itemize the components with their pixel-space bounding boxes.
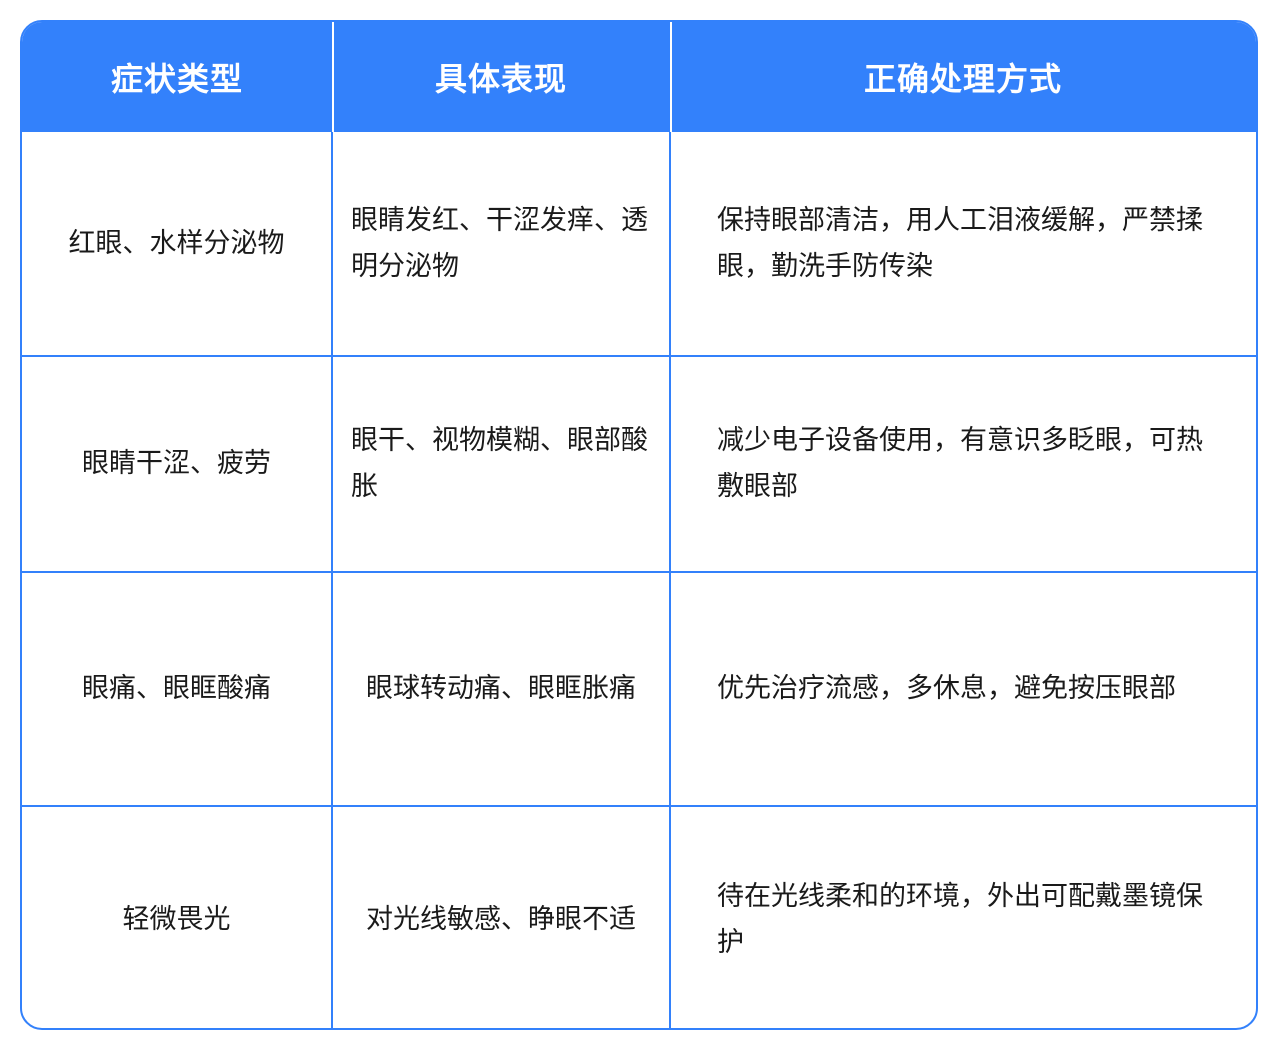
treatment-text: 待在光线柔和的环境，外出可配戴墨镜保护 (717, 874, 1216, 966)
cell-treatment: 待在光线柔和的环境，外出可配戴墨镜保护 (670, 806, 1256, 1030)
symptom-type-text: 眼痛、眼眶酸痛 (82, 666, 271, 712)
column-header-manifestation: 具体表现 (332, 22, 670, 132)
cell-symptom-type: 眼痛、眼眶酸痛 (22, 572, 332, 806)
symptom-type-text: 眼睛干涩、疲劳 (82, 441, 271, 487)
column-header-symptom-type: 症状类型 (22, 22, 332, 132)
cell-manifestation: 对光线敏感、睁眼不适 (332, 806, 670, 1030)
table-header: 症状类型 具体表现 正确处理方式 (22, 22, 1256, 132)
symptom-treatment-table: 症状类型 具体表现 正确处理方式 红眼、水样分泌物 眼睛发红、干涩发痒、透明分泌… (20, 20, 1258, 1030)
manifestation-text: 对光线敏感、睁眼不适 (366, 897, 636, 943)
column-header-treatment: 正确处理方式 (670, 22, 1256, 132)
cell-symptom-type: 红眼、水样分泌物 (22, 132, 332, 356)
cell-manifestation: 眼干、视物模糊、眼部酸胀 (332, 356, 670, 572)
manifestation-text: 眼睛发红、干涩发痒、透明分泌物 (351, 198, 651, 290)
table-row: 眼痛、眼眶酸痛 眼球转动痛、眼眶胀痛 优先治疗流感，多休息，避免按压眼部 (22, 572, 1256, 806)
table-body: 红眼、水样分泌物 眼睛发红、干涩发痒、透明分泌物 保持眼部清洁，用人工泪液缓解，… (22, 132, 1256, 1030)
cell-symptom-type: 轻微畏光 (22, 806, 332, 1030)
manifestation-text: 眼干、视物模糊、眼部酸胀 (351, 418, 651, 510)
cell-manifestation: 眼球转动痛、眼眶胀痛 (332, 572, 670, 806)
table-row: 轻微畏光 对光线敏感、睁眼不适 待在光线柔和的环境，外出可配戴墨镜保护 (22, 806, 1256, 1030)
table: 症状类型 具体表现 正确处理方式 红眼、水样分泌物 眼睛发红、干涩发痒、透明分泌… (22, 22, 1256, 1030)
symptom-type-text: 轻微畏光 (123, 897, 231, 943)
cell-treatment: 减少电子设备使用，有意识多眨眼，可热敷眼部 (670, 356, 1256, 572)
treatment-text: 优先治疗流感，多休息，避免按压眼部 (717, 666, 1216, 712)
table-row: 眼睛干涩、疲劳 眼干、视物模糊、眼部酸胀 减少电子设备使用，有意识多眨眼，可热敷… (22, 356, 1256, 572)
treatment-text: 保持眼部清洁，用人工泪液缓解，严禁揉眼，勤洗手防传染 (717, 198, 1216, 290)
page-root: 症状类型 具体表现 正确处理方式 红眼、水样分泌物 眼睛发红、干涩发痒、透明分泌… (0, 0, 1280, 1052)
cell-manifestation: 眼睛发红、干涩发痒、透明分泌物 (332, 132, 670, 356)
cell-symptom-type: 眼睛干涩、疲劳 (22, 356, 332, 572)
table-row: 红眼、水样分泌物 眼睛发红、干涩发痒、透明分泌物 保持眼部清洁，用人工泪液缓解，… (22, 132, 1256, 356)
treatment-text: 减少电子设备使用，有意识多眨眼，可热敷眼部 (717, 418, 1216, 510)
cell-treatment: 优先治疗流感，多休息，避免按压眼部 (670, 572, 1256, 806)
header-row: 症状类型 具体表现 正确处理方式 (22, 22, 1256, 132)
manifestation-text: 眼球转动痛、眼眶胀痛 (366, 666, 636, 712)
symptom-type-text: 红眼、水样分泌物 (69, 221, 285, 267)
cell-treatment: 保持眼部清洁，用人工泪液缓解，严禁揉眼，勤洗手防传染 (670, 132, 1256, 356)
